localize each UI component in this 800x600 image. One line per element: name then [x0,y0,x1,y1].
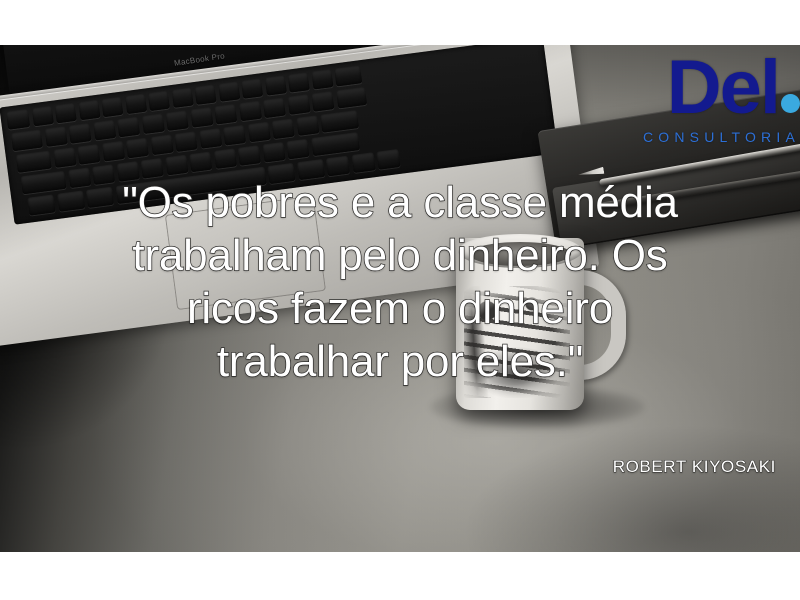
quote-text: "Os pobres e a classe média trabalham pe… [0,176,800,388]
quote-attribution: ROBERT KIYOSAKI [613,457,776,477]
logo-dot-icon [781,94,800,113]
del-consultoria-logo: Del CONSULTORIA [620,50,800,144]
image-canvas: MacBook Pro [0,0,800,600]
logo-wordmark: Del [667,50,779,126]
logo-tagline: CONSULTORIA [620,130,800,144]
